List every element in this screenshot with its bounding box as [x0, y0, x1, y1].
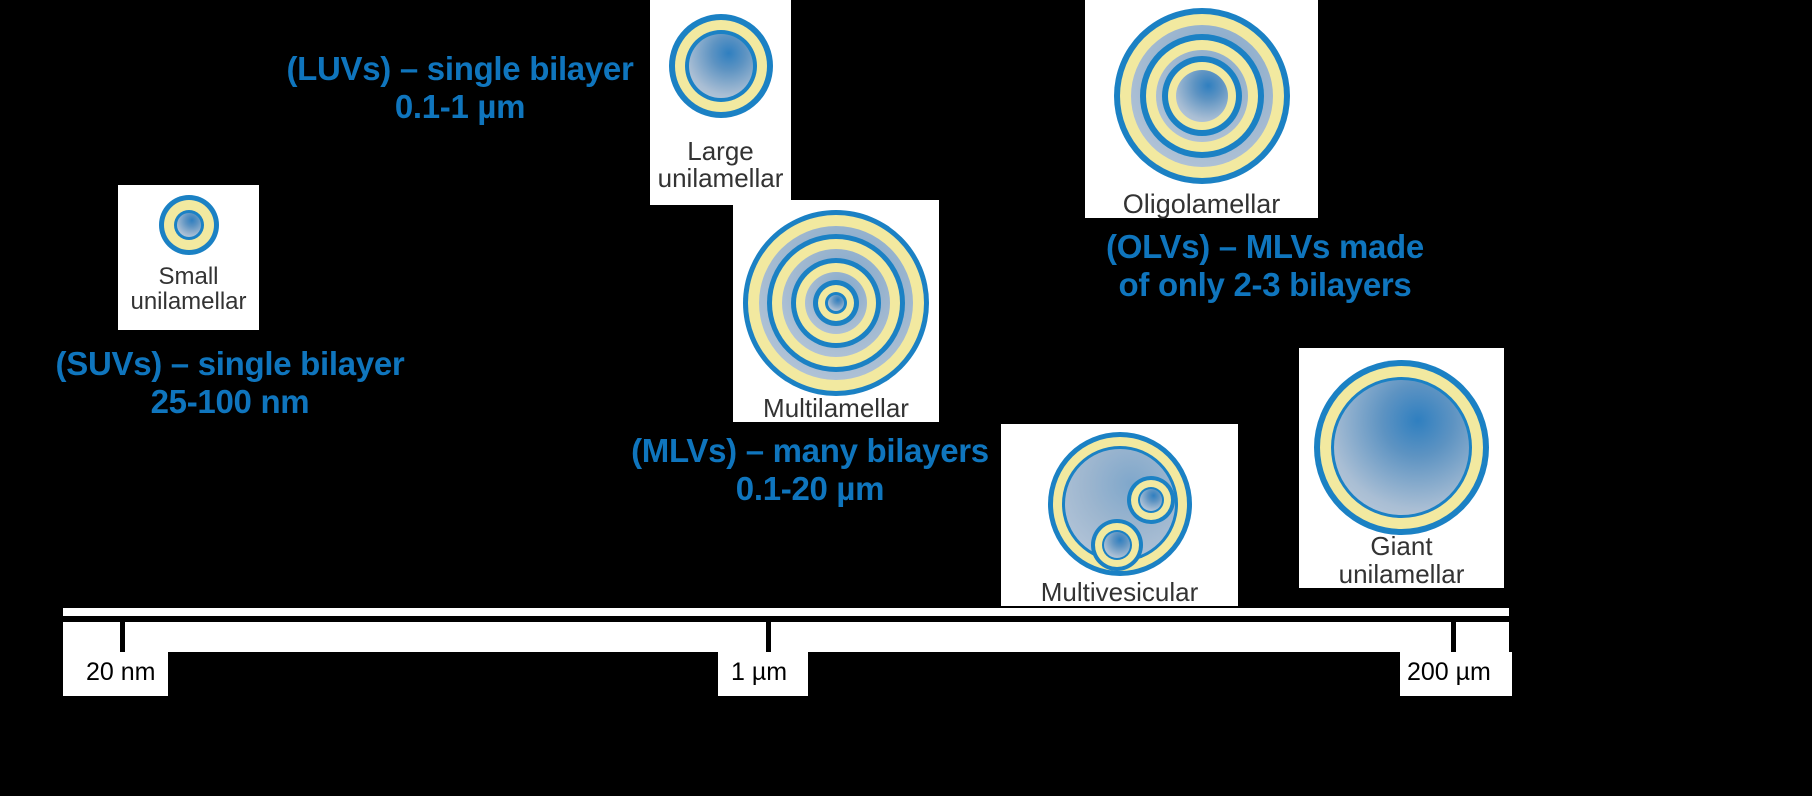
panel-large-unilamellar: Large unilamellar — [650, 0, 791, 205]
panel-small-unilamellar: Small unilamellar — [118, 185, 259, 330]
annotation-suv: (SUVs) – single bilayer 25-100 nm — [10, 345, 450, 422]
inner-vesicle-1-lumen — [1140, 489, 1162, 511]
panel-label-luv-line2: unilamellar — [658, 165, 784, 192]
panel-label-suv-line1: Small — [158, 264, 218, 289]
annotation-suv-line1: (SUVs) – single bilayer — [10, 345, 450, 383]
scale-label-200um: 200 µm — [1407, 658, 1491, 687]
vesicle-figure-mlv — [743, 210, 929, 387]
annotation-luv-line2: 0.1-1 µm — [245, 88, 675, 126]
vesicle-figure-guv — [1314, 360, 1489, 523]
panel-giant-unilamellar: Giant unilamellar — [1299, 348, 1504, 588]
panel-label-guv-line1: Giant — [1370, 533, 1432, 560]
annotation-luv-line1: (LUVs) – single bilayer — [245, 50, 675, 88]
scale-tick-200um — [1451, 622, 1456, 656]
panel-multilamellar: Multilamellar — [733, 200, 939, 422]
annotation-suv-line2: 25-100 nm — [10, 383, 450, 421]
panel-label-luv-line1: Large — [687, 138, 754, 165]
panel-multivesicular: Multivesicular — [1001, 424, 1238, 606]
annotation-mlv-line2: 0.1-20 µm — [590, 470, 1030, 508]
panel-label-suv-line2: unilamellar — [130, 289, 246, 314]
vesicle-lumen — [689, 34, 753, 98]
scale-label-20nm: 20 nm — [86, 658, 155, 687]
vesicle-lumen — [1176, 70, 1228, 122]
inner-vesicle-2-lumen — [1104, 532, 1130, 558]
panel-label-guv-line2: unilamellar — [1339, 561, 1465, 588]
vesicle-lumen — [1334, 380, 1469, 515]
annotation-mlv-line1: (MLVs) – many bilayers — [590, 432, 1030, 470]
vesicle-figure-olv — [1114, 8, 1290, 178]
scale-label-1um: 1 µm — [731, 658, 787, 687]
vesicle-lumen — [828, 295, 844, 311]
scale-bar: 20 nm 1 µm 200 µm — [0, 600, 1812, 796]
panel-label-olv-line1: Oligolamellar — [1123, 190, 1281, 218]
vesicle-figure-suv — [159, 195, 219, 255]
annotation-olv-line1: (OLVs) – MLVs made — [1045, 228, 1485, 266]
vesicle-lumen — [177, 213, 201, 237]
vesicle-figure-luv — [669, 14, 773, 118]
annotation-olv-line2: of only 2-3 bilayers — [1045, 266, 1485, 304]
annotation-mlv: (MLVs) – many bilayers 0.1-20 µm — [590, 432, 1030, 509]
scale-tick-20nm — [120, 622, 125, 656]
annotation-luv: (LUVs) – single bilayer 0.1-1 µm — [245, 50, 675, 127]
scale-bar-axis-line — [63, 616, 1509, 622]
scale-tick-1um — [766, 622, 771, 656]
panel-label-mlv-line1: Multilamellar — [763, 395, 909, 422]
scale-bar-band — [63, 608, 1509, 652]
vesicle-figure-mvv — [1048, 432, 1192, 573]
panel-oligolamellar: Oligolamellar — [1085, 0, 1318, 218]
annotation-olv: (OLVs) – MLVs made of only 2-3 bilayers — [1045, 228, 1485, 305]
